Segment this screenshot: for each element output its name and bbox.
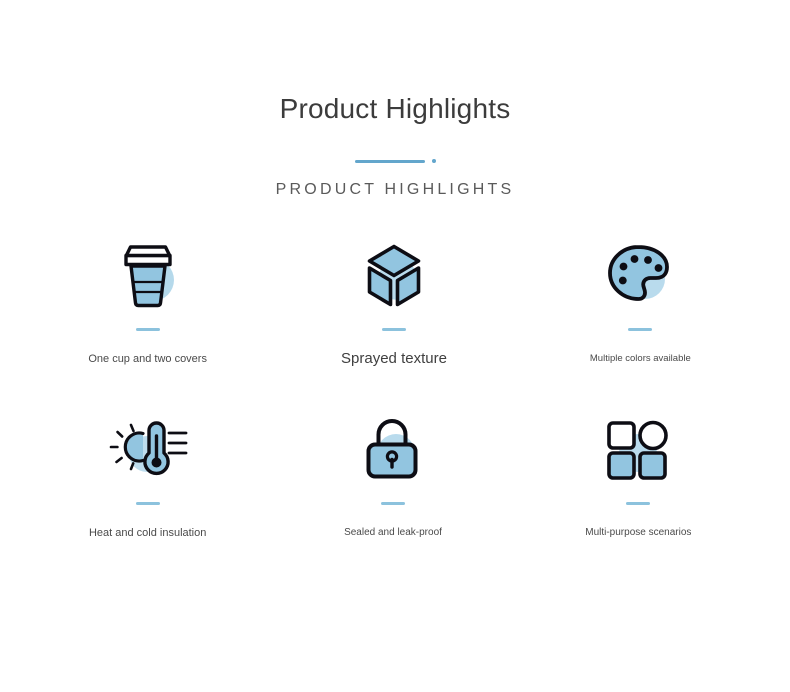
feature-rule [628,328,652,331]
page-title: Product Highlights [0,92,790,126]
feature-label: One cup and two covers [88,351,207,367]
thermometer-sun-icon [110,416,186,486]
feature-label: Sealed and leak-proof [344,525,442,541]
feature-card-sprayed-texture[interactable]: Sprayed texture [276,238,511,416]
coffee-cup-icon [110,238,186,314]
divider-line-icon [355,160,425,163]
feature-label: Sprayed texture [341,351,447,367]
title-divider [0,156,790,166]
feature-card-multi-purpose-scenarios[interactable]: Multi-purpose scenarios [521,416,756,594]
feature-rule [136,502,160,505]
feature-rule [136,328,160,331]
feature-label: Multiple colors available [590,351,691,367]
feature-rule [381,502,405,505]
padlock-icon [355,416,431,486]
feature-rule [382,328,406,331]
divider-dot-icon [432,159,436,163]
product-highlights-page: Product Highlights PRODUCT HIGHLIGHTS [0,0,790,692]
feature-card-one-cup-and-two-covers[interactable]: One cup and two covers [30,238,265,416]
feature-grid: One cup and two covers Sprayed texture [0,238,790,594]
feature-label: Heat and cold insulation [89,525,206,541]
feature-card-heat-and-cold-insulation[interactable]: Heat and cold insulation [30,416,265,594]
page-subtitle: PRODUCT HIGHLIGHTS [0,166,790,200]
page-header: Product Highlights PRODUCT HIGHLIGHTS [0,0,790,200]
feature-card-sealed-and-leak-proof[interactable]: Sealed and leak-proof [275,416,510,594]
feature-card-multiple-colors-available[interactable]: Multiple colors available [523,238,758,416]
feature-label: Multi-purpose scenarios [585,525,691,541]
3d-box-icon [356,238,432,314]
paint-palette-icon [602,238,678,314]
feature-rule [626,502,650,505]
grid-shapes-icon [600,416,676,486]
